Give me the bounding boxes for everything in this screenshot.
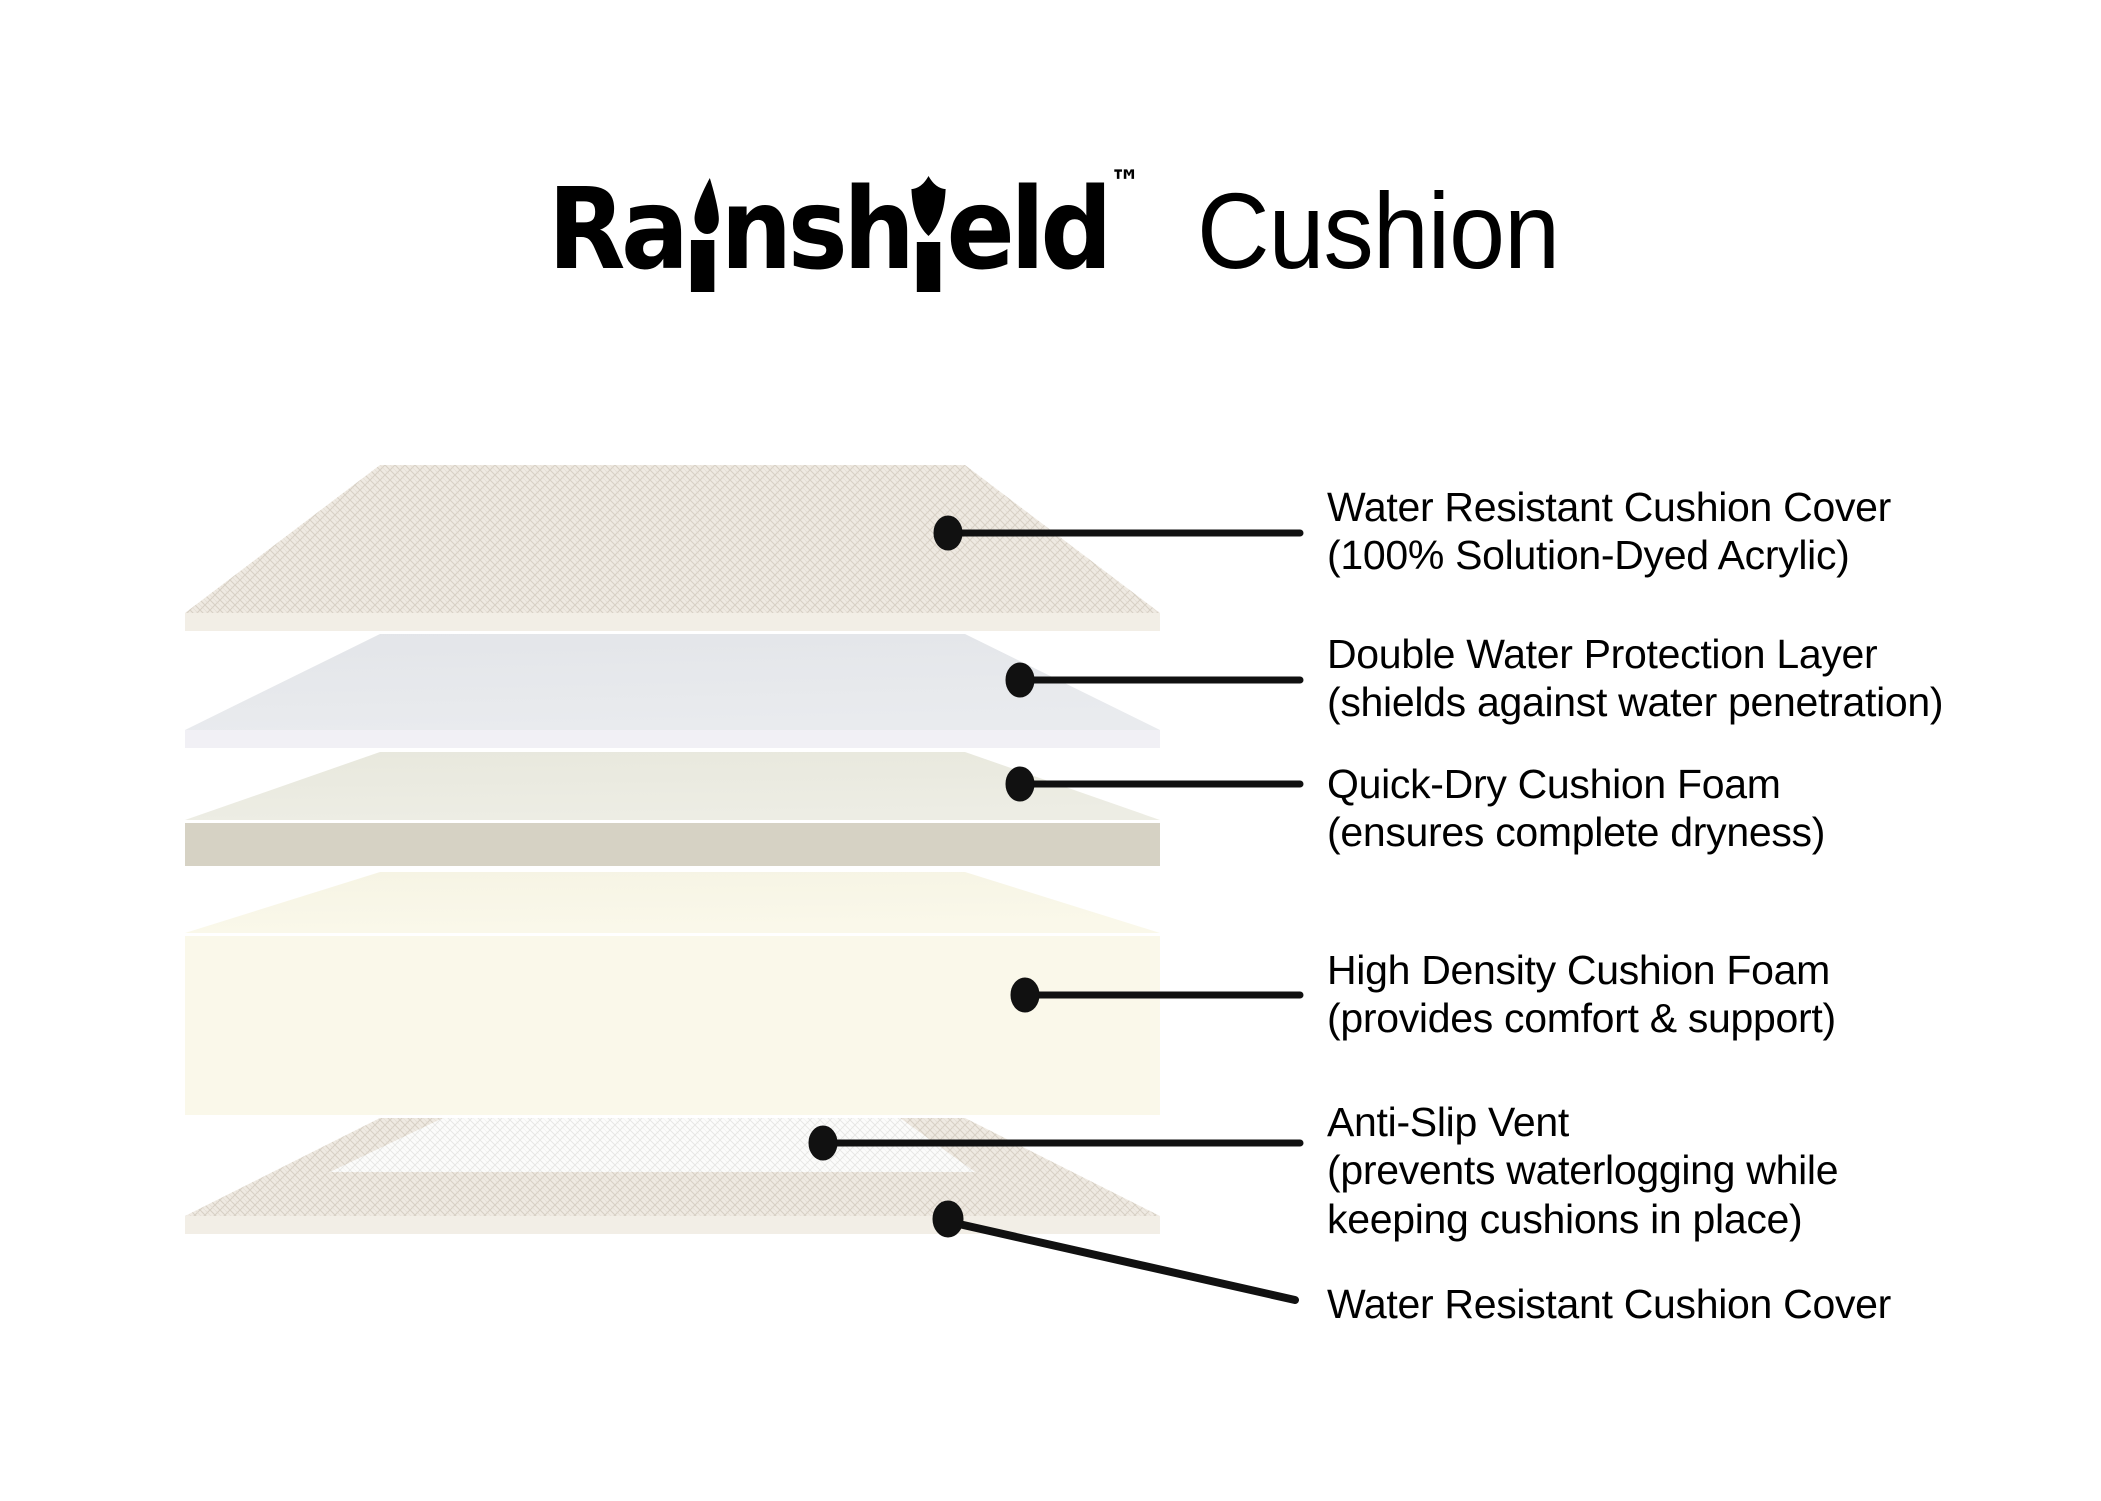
leader-dot-vent: [809, 1126, 837, 1160]
callout-quickdry-sub: (ensures complete dryness): [1327, 808, 1825, 856]
leader-dot-cover-bottom: [933, 1201, 963, 1237]
callout-cover-top: Water Resistant Cushion Cover (100% Solu…: [1327, 483, 1891, 580]
callout-vent-sub-line1: (prevents waterlogging while: [1327, 1146, 1838, 1194]
layer-cover-top: [185, 465, 1160, 631]
callout-quickdry-title: Quick-Dry Cushion Foam: [1327, 760, 1825, 808]
leader-dot-density: [1011, 978, 1039, 1012]
layer-quickdry-edge: [185, 823, 1160, 866]
callout-vent: Anti-Slip Vent (prevents waterlogging wh…: [1327, 1098, 1838, 1243]
layer-cover-top-surface: [185, 465, 1160, 613]
layer-protection-edge: [185, 730, 1160, 748]
callout-protection: Double Water Protection Layer (shields a…: [1327, 630, 1943, 727]
exploded-layer-diagram: [0, 0, 2101, 1501]
callout-protection-title: Double Water Protection Layer: [1327, 630, 1943, 678]
layer-density-front-face: [185, 936, 1160, 1115]
callout-cover-top-sub: (100% Solution-Dyed Acrylic): [1327, 531, 1891, 579]
leader-dot-cover-top: [934, 516, 962, 550]
layer-cover-top-edge: [185, 613, 1160, 631]
callout-vent-sub-line2: keeping cushions in place): [1327, 1195, 1838, 1243]
callout-vent-title: Anti-Slip Vent: [1327, 1098, 1838, 1146]
callout-cover-bottom-title: Water Resistant Cushion Cover: [1327, 1280, 1891, 1328]
diagram-page: Ransheld™ Cushion: [0, 0, 2101, 1501]
leader-dot-quickdry: [1006, 767, 1034, 801]
callout-density: High Density Cushion Foam (provides comf…: [1327, 946, 1836, 1043]
layer-density-surface: [185, 872, 1160, 933]
callout-quickdry: Quick-Dry Cushion Foam (ensures complete…: [1327, 760, 1825, 857]
callout-density-sub: (provides comfort & support): [1327, 994, 1836, 1042]
callout-density-title: High Density Cushion Foam: [1327, 946, 1836, 994]
callout-cover-bottom: Water Resistant Cushion Cover: [1327, 1280, 1891, 1328]
leader-dot-protection: [1006, 663, 1034, 697]
callout-cover-top-title: Water Resistant Cushion Cover: [1327, 483, 1891, 531]
callout-protection-sub: (shields against water penetration): [1327, 678, 1943, 726]
layer-cover-bottom-edge: [185, 1216, 1160, 1234]
